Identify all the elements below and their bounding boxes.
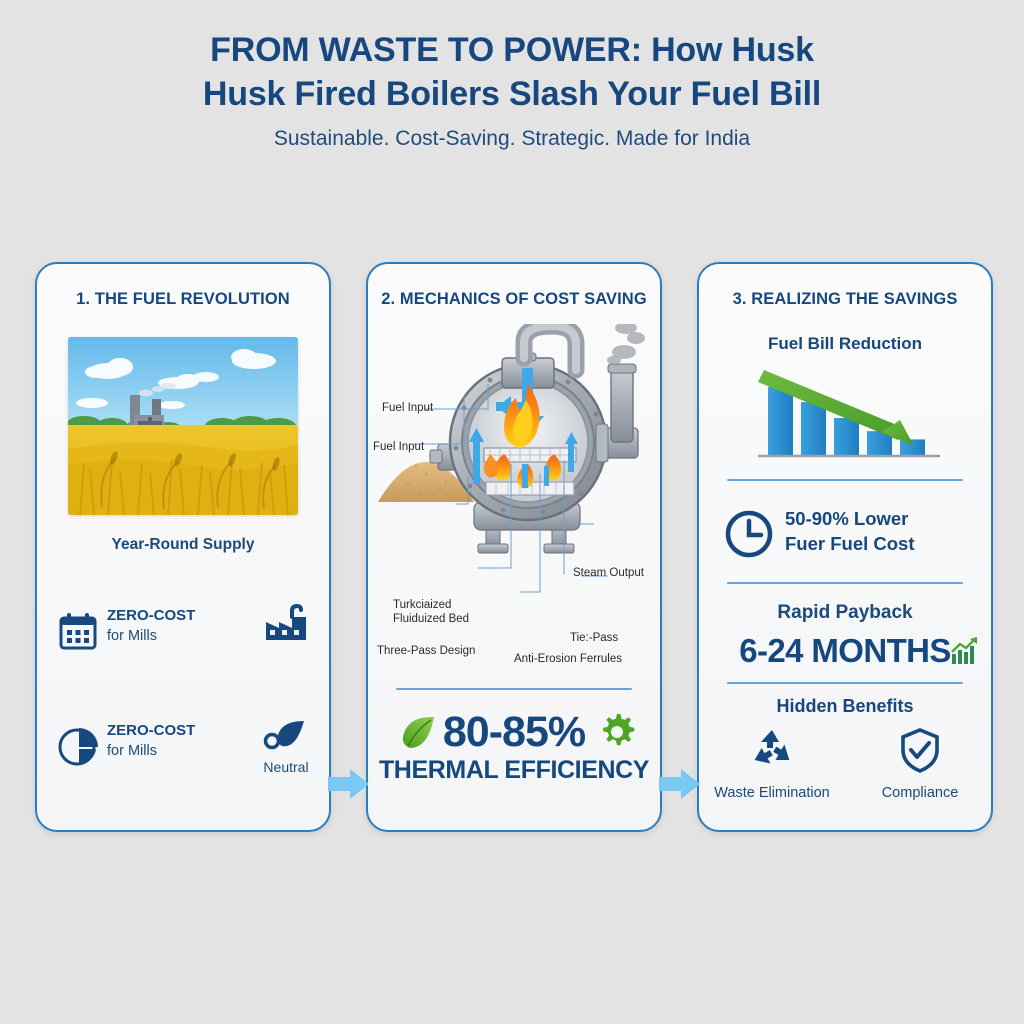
- chart-bar: [834, 418, 859, 456]
- feature-2-right: Neutral: [259, 719, 313, 775]
- page-subtitle: Sustainable. Cost-Saving. Strategic. Mad…: [0, 122, 1024, 156]
- diagram-label-fuel-input-1: Fuel Input: [382, 401, 433, 415]
- rapid-payback-label: Rapid Payback: [699, 602, 991, 624]
- bar-chart-svg: [754, 362, 944, 464]
- card-3-divider-1: [727, 479, 963, 481]
- arrow-right-icon-2: [659, 767, 701, 801]
- calendar-icon: [55, 608, 101, 654]
- card-fuel-revolution[interactable]: 1. THE FUEL REVOLUTION: [35, 262, 331, 832]
- feature-1-text: ZERO-COST for Mills: [107, 606, 195, 646]
- feature-row-zero-cost-1: ZERO-COST for Mills: [55, 604, 313, 662]
- smoke-icon: [607, 324, 645, 365]
- diagram-label-fluidized-bed-line-1: Turkciaized: [393, 598, 451, 612]
- gear-icon: [598, 713, 636, 751]
- benefit-2-label: Compliance: [855, 785, 985, 801]
- diagram-label-fuel-input-2: Fuel Input: [373, 440, 424, 454]
- feature-2-right-label: Neutral: [259, 759, 313, 775]
- diagram-label-steam-output: Steam Output: [573, 566, 644, 580]
- card-1-image-caption: Year-Round Supply: [37, 536, 329, 554]
- lower-fuel-cost-stat: 50-90% Lower Fuer Fuel Cost: [723, 502, 967, 564]
- card-realizing-the-savings[interactable]: 3. REALIZING THE SAVINGS Fuel Bill Reduc…: [697, 262, 993, 832]
- page-header: FROM WASTE TO POWER: How Husk Husk Fired…: [0, 28, 1024, 156]
- benefit-compliance[interactable]: Compliance: [855, 726, 985, 801]
- hidden-benefits-label: Hidden Benefits: [699, 696, 991, 717]
- recycle-icon: [748, 761, 796, 778]
- benefit-waste-elimination[interactable]: Waste Elimination: [707, 726, 837, 801]
- feature-2-sub: for Mills: [107, 743, 157, 759]
- feature-2-text: ZERO-COST for Mills: [107, 721, 195, 761]
- feature-1-headline: ZERO-COST: [107, 607, 195, 624]
- diagram-label-three-pass-design: Three-Pass Design: [377, 644, 475, 658]
- feature-2-headline: ZERO-COST: [107, 722, 195, 739]
- card-3-divider-2: [727, 582, 963, 584]
- diagram-label-fluidized-bed-line-2: Fluiduized Bed: [393, 612, 469, 626]
- chart-bar: [900, 439, 925, 456]
- clock-icon: [723, 508, 775, 560]
- benefit-1-label: Waste Elimination: [707, 785, 837, 801]
- feature-1-right: [259, 604, 313, 649]
- leaf-icon: [262, 719, 310, 753]
- thermal-efficiency-label: THERMAL EFFICIENCY: [368, 756, 660, 785]
- factory-icon: [262, 604, 310, 644]
- card-2-title: 2. MECHANICS OF COST SAVING: [368, 290, 660, 309]
- diagram-label-anti-erosion-ferrules: Anti-Erosion Ferrules: [514, 652, 622, 666]
- growth-chart-icon: [949, 636, 979, 666]
- wheat-field-illustration: [68, 337, 298, 515]
- page-title-line-2: Husk Fired Boilers Slash Your Fuel Bill: [0, 72, 1024, 116]
- chart-bar: [801, 402, 826, 456]
- card-1-title: 1. THE FUEL REVOLUTION: [37, 290, 329, 309]
- page-title-line-1: FROM WASTE TO POWER: How Husk: [0, 28, 1024, 72]
- feature-row-zero-cost-2: ZERO-COST for Mills Neutral: [55, 719, 313, 777]
- diagram-label-tie-pass: Tie:-Pass: [570, 631, 618, 645]
- feature-1-sub: for Mills: [107, 628, 157, 644]
- card-3-title: 3. REALIZING THE SAVINGS: [699, 290, 991, 309]
- wheat-field-image: [68, 337, 298, 515]
- chart-caption: Fuel Bill Reduction: [699, 334, 991, 354]
- chart-bar: [768, 387, 793, 456]
- card-mechanics-of-cost-saving[interactable]: 2. MECHANICS OF COST SAVING: [366, 262, 662, 832]
- rapid-payback-value: 6-24 MONTHS: [699, 632, 991, 670]
- card-3-divider-3: [727, 682, 963, 684]
- lower-fuel-cost-line-2: Fuer Fuel Cost: [785, 533, 915, 554]
- lower-fuel-cost-text: 50-90% Lower Fuer Fuel Cost: [785, 506, 915, 556]
- fuel-bill-reduction-chart: [754, 362, 944, 464]
- shield-check-icon: [896, 761, 944, 778]
- lower-fuel-cost-line-1: 50-90% Lower: [785, 508, 908, 529]
- arrow-right-icon-1: [328, 767, 370, 801]
- card-2-divider: [396, 688, 632, 690]
- cards-row: 1. THE FUEL REVOLUTION: [0, 262, 1024, 832]
- thermal-efficiency-row: 80-85%: [368, 708, 660, 760]
- pie-chart-icon: [55, 723, 101, 769]
